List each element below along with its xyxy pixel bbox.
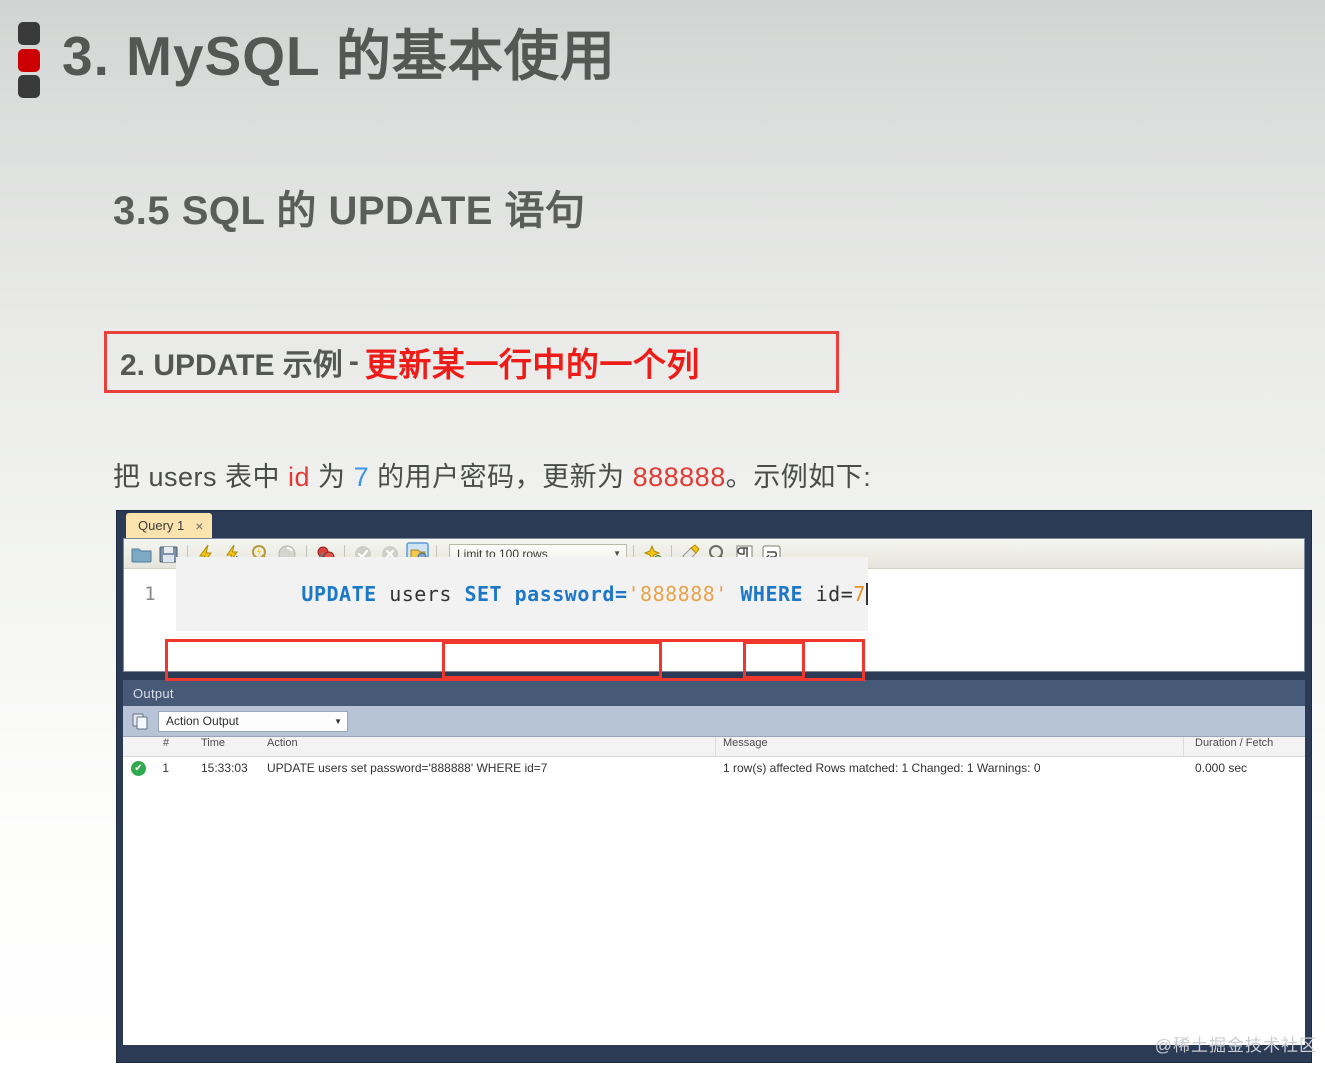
header-block-middle-red [18, 49, 40, 72]
mysql-workbench-window: Query 1 × [116, 510, 1312, 1063]
sql-code-area[interactable]: 1 UPDATE users SET password='888888' WHE… [124, 569, 1304, 671]
header-decoration-icon [18, 22, 40, 98]
cell-number: 1 [153, 761, 169, 775]
sql-editor-frame: Limit to 100 rows ▼ 1 [123, 538, 1305, 672]
annotation-box-password-assignment [442, 641, 662, 679]
tab-label: Query 1 [138, 518, 184, 533]
section-heading: 3.5 SQL 的 UPDATE 语句 [113, 178, 586, 236]
subheading-highlight-box: 2. UPDATE 示例 - 更新某一行中的一个列 [104, 331, 839, 393]
close-icon[interactable]: × [195, 519, 203, 533]
subheading-red-text: 更新某一行中的一个列 [365, 338, 700, 386]
sql-token-set: SET [464, 582, 502, 606]
sql-token-string-value: '888888' [628, 582, 728, 606]
sql-token-table: users [377, 582, 465, 606]
slide-header: 3. MySQL 的基本使用 [0, 0, 1325, 120]
description-seg-2: 为 [310, 462, 354, 492]
description-seg-4: 。示例如下: [726, 462, 872, 492]
action-output-header-row: # Time Action Message Duration / Fetch [123, 737, 1305, 757]
description-seg-1: 把 users 表中 [113, 462, 288, 492]
sql-token-update: UPDATE [301, 582, 376, 606]
cell-message: 1 row(s) affected Rows matched: 1 Change… [723, 761, 1041, 775]
line-number-gutter: 1 [124, 583, 176, 605]
subheading-separator: - [343, 345, 365, 379]
cell-duration: 0.000 sec [1195, 761, 1247, 775]
open-folder-icon[interactable] [129, 542, 154, 566]
sql-token-column-assign: password= [502, 582, 627, 606]
description-value-token: 888888 [633, 462, 726, 492]
sql-token-id-column: id= [803, 582, 853, 606]
chevron-down-icon: ▼ [334, 717, 342, 726]
page-title: 3. MySQL 的基本使用 [62, 14, 616, 98]
watermark: @稀土掘金技术社区 [1155, 1031, 1317, 1056]
header-block-top [18, 22, 40, 45]
sql-statement-text[interactable]: UPDATE users SET password='888888' WHERE… [176, 557, 868, 631]
table-row[interactable]: ✔ 1 15:33:03 UPDATE users set password='… [123, 757, 1305, 781]
output-panel-title: Output [123, 680, 1305, 706]
column-header-number: # [163, 737, 169, 749]
description-id-token: id [288, 462, 310, 492]
annotation-box-where-condition [743, 641, 805, 679]
column-divider [1183, 737, 1184, 756]
output-panel-toolbar: Action Output ▼ [123, 706, 1305, 736]
annotation-box-whole-statement [165, 639, 865, 681]
description-line: 把 users 表中 id 为 7 的用户密码，更新为 888888。示例如下: [113, 455, 871, 494]
description-seg-3: 的用户密码，更新为 [369, 462, 633, 492]
text-caret [866, 583, 868, 605]
header-block-bottom [18, 75, 40, 98]
column-divider [715, 737, 716, 756]
action-output-grid[interactable]: # Time Action Message Duration / Fetch ✔… [123, 736, 1305, 1045]
subheading-dark-text: 2. UPDATE 示例 [120, 340, 343, 384]
output-type-select[interactable]: Action Output ▼ [158, 711, 348, 732]
tab-query-1[interactable]: Query 1 × [126, 513, 212, 538]
status-success-icon: ✔ [131, 761, 146, 776]
column-header-message: Message [723, 737, 768, 749]
column-header-time: Time [201, 737, 225, 749]
sql-code-line[interactable]: 1 UPDATE users SET password='888888' WHE… [124, 580, 1304, 608]
output-type-label: Action Output [166, 714, 239, 728]
cell-time: 15:33:03 [201, 761, 248, 775]
editor-tab-strip: Query 1 × [117, 511, 1311, 538]
description-number-token: 7 [354, 462, 370, 492]
column-header-duration: Duration / Fetch [1195, 737, 1273, 749]
cell-action: UPDATE users set password='888888' WHERE… [267, 761, 547, 775]
copy-icon[interactable] [131, 712, 150, 731]
sql-token-where: WHERE [728, 582, 803, 606]
column-header-action: Action [267, 737, 298, 749]
sql-token-id-value: 7 [853, 582, 866, 606]
